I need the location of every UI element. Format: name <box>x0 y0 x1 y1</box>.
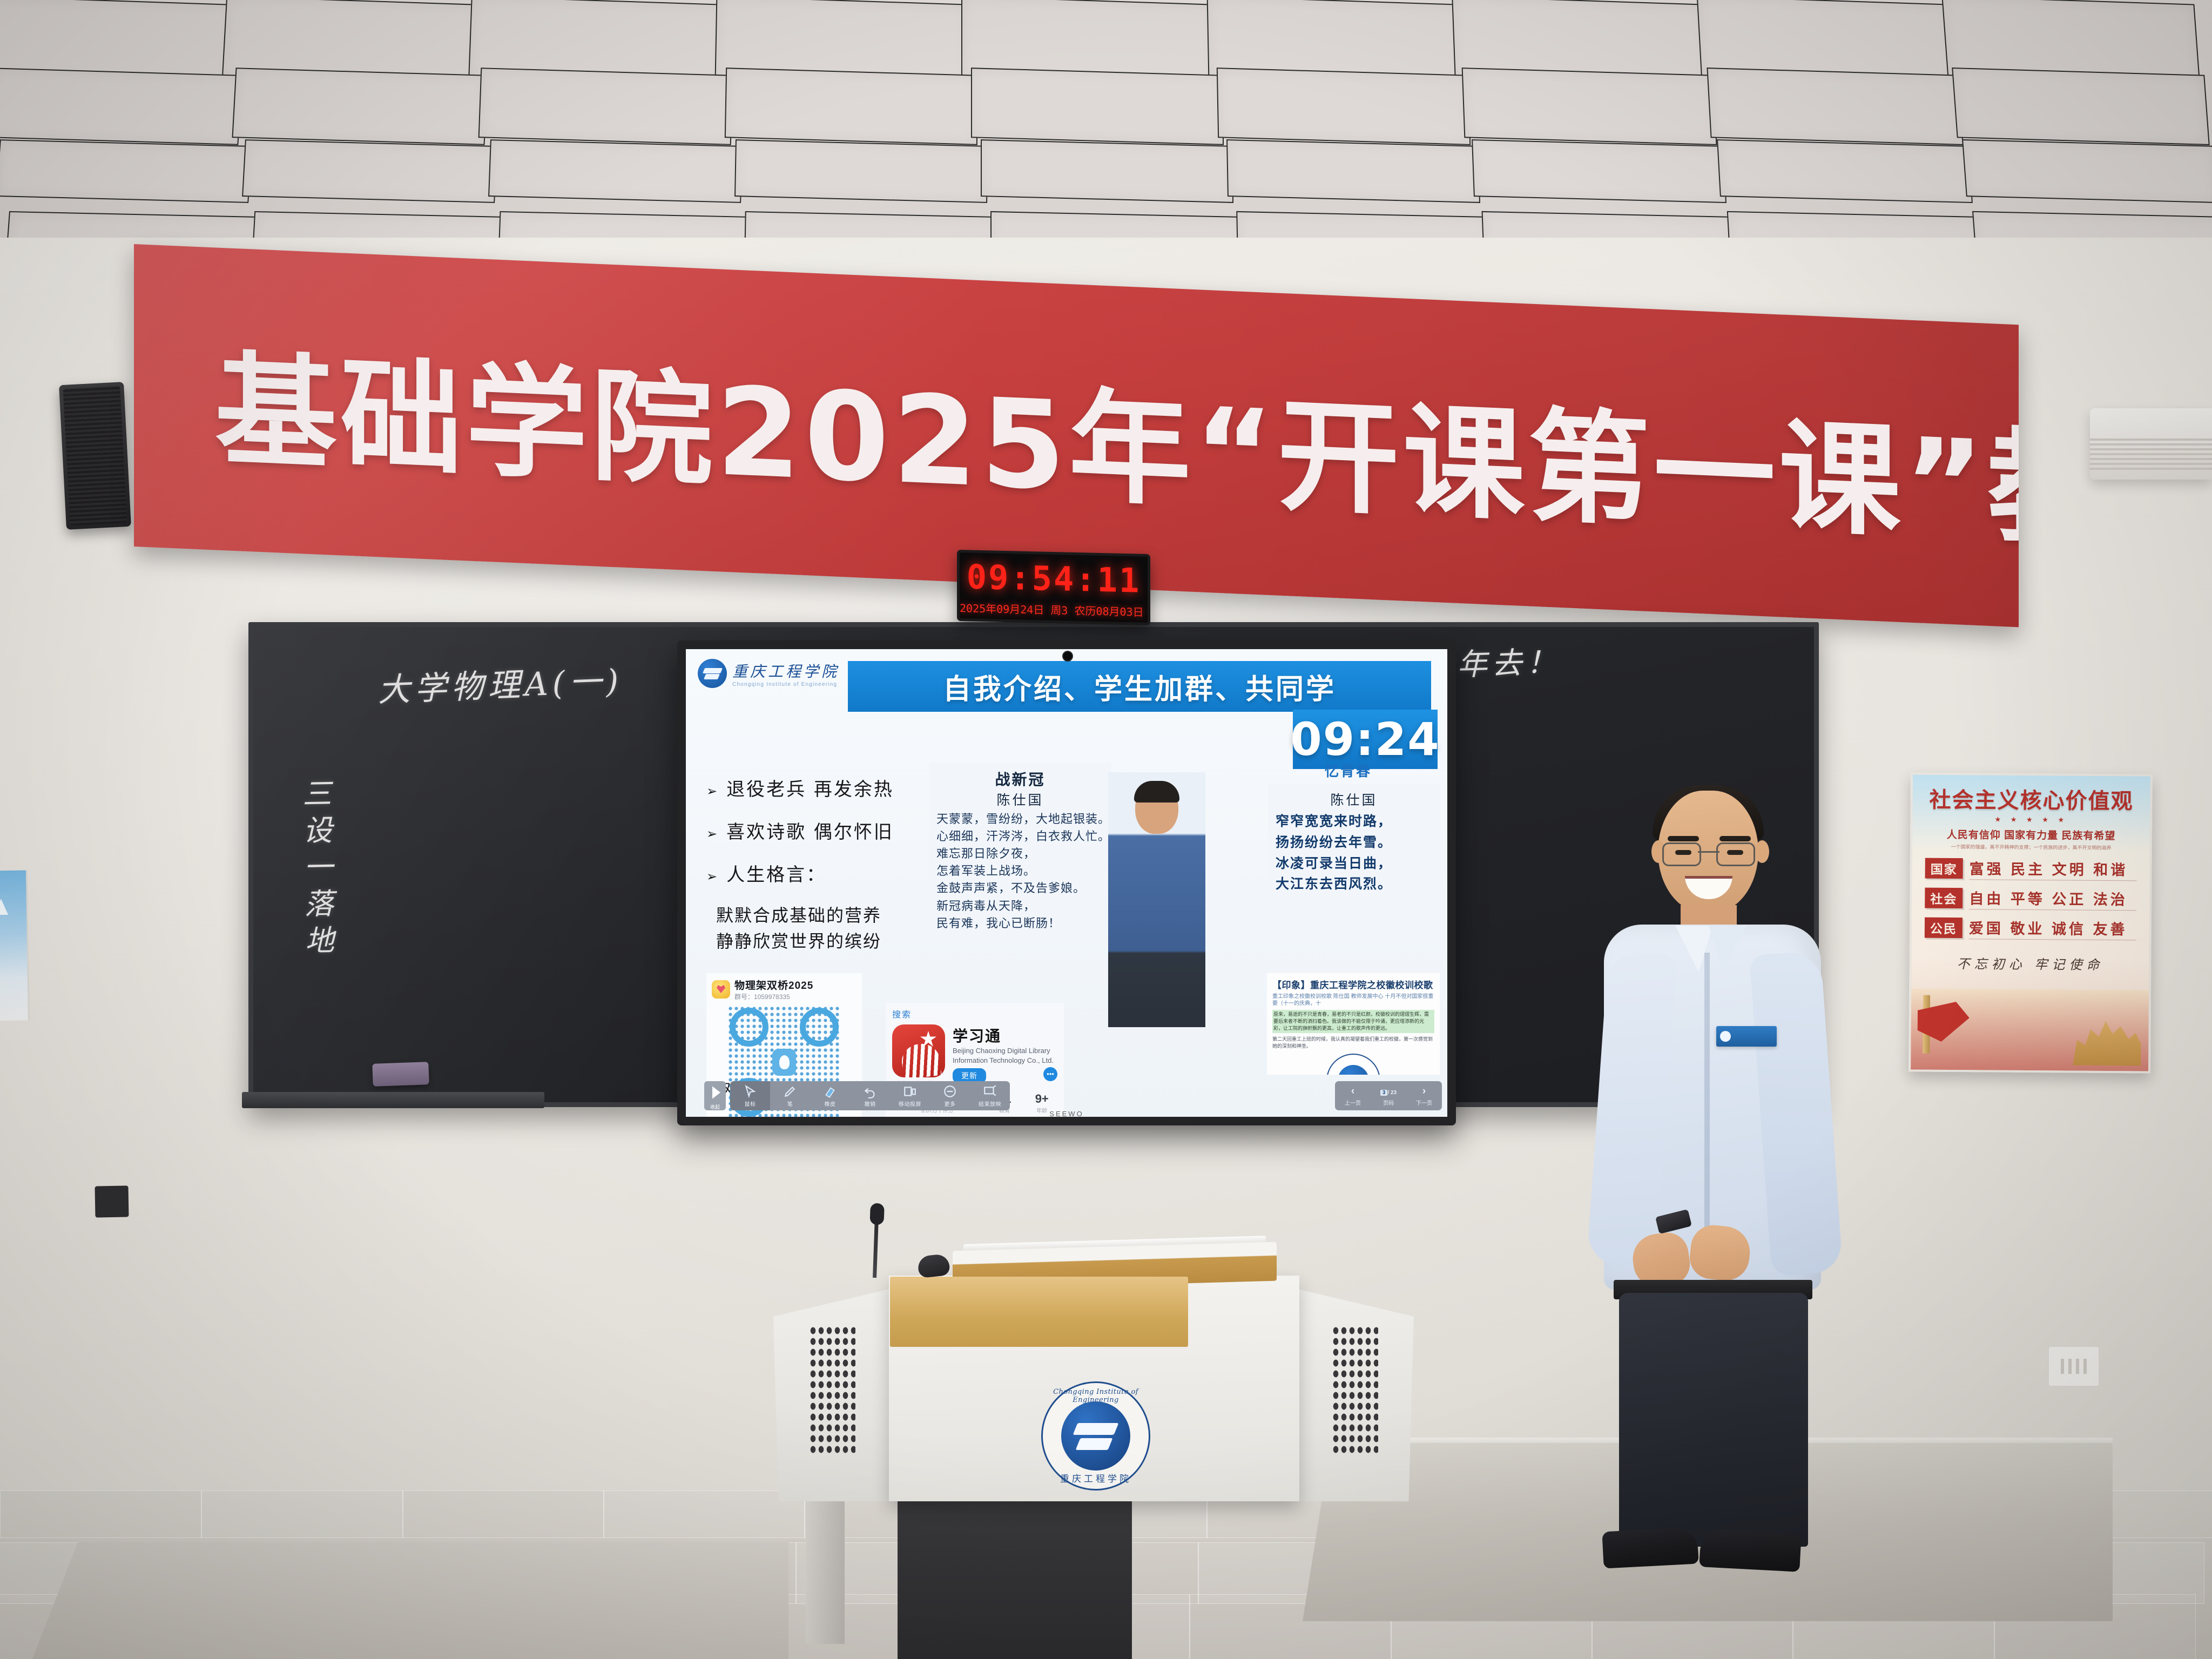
poem-line: 大江东去西风烈。 <box>1276 874 1432 895</box>
bullet-text: 退役老兵 再发余热 <box>726 774 894 801</box>
portrait-hair <box>1134 781 1179 802</box>
ceiling-tile <box>1952 68 2210 145</box>
bullet-text: 喜欢诗歌 偶尔怀旧 <box>726 817 894 844</box>
lower-platform <box>32 1542 788 1659</box>
ceiling-tile <box>1461 68 1717 145</box>
slide-logo-cn: 重庆工程学院 <box>732 660 839 682</box>
slide-logo-en: Chongqing Institute of Engineering <box>732 682 839 687</box>
list-item: ➢ 人生格言： <box>706 860 917 886</box>
air-conditioner <box>2090 408 2212 480</box>
collapse-toolbar-button[interactable]: 收起 <box>704 1081 726 1110</box>
slide-bullet-list: ➢ 退役老兵 再发余热 ➢ 喜欢诗歌 偶尔怀旧 ➢ 人生格言： 默默合成基础的营… <box>706 774 917 954</box>
poem-line: 怎着军装上战场。 <box>936 863 1104 880</box>
article-subtitle: 重工印象之校徽校训校歌 陈仕国 教师发展中心 十月不但对国家很重要（十一的庆典，… <box>1272 993 1434 1007</box>
poem-line: 难忘那日除夕夜， <box>936 846 1104 863</box>
page-current: 3 <box>1380 1090 1388 1096</box>
ceiling-tile <box>1962 139 2212 203</box>
chalk-tray <box>242 1092 544 1108</box>
back-search-label[interactable]: 搜索 <box>886 1003 1064 1022</box>
person-shoe-right <box>1699 1529 1801 1572</box>
next-page-button[interactable]: ›下一页 <box>1406 1081 1442 1110</box>
poster-subtitle: 人民有信仰 国家有力量 民族有希望 <box>1912 826 2150 842</box>
bullet-text: 人生格言： <box>726 860 826 886</box>
led-wall-clock: 09:54:11 2025年09月24日 周3 农历08月03日 温度35℃ <box>957 550 1150 625</box>
slide-school-logo: 重庆工程学院 Chongqing Institute of Engineerin… <box>698 659 839 688</box>
ceiling-tile <box>0 139 253 203</box>
presenter-portrait-photo <box>1108 772 1205 1027</box>
poem-card-yiqingchun: 陈仕国 窄窄宽宽来时路， 扬扬纷纷去年雪。 冰凌可录当日曲， 大江东去西风烈。 <box>1268 784 1440 900</box>
tv-brand-label: SEEWO <box>1049 1110 1083 1118</box>
motto-line-2: 静静欣赏世界的缤纷 <box>716 928 917 954</box>
ceiling-tile <box>725 68 979 145</box>
podium-left-panel <box>773 1286 901 1501</box>
poster-row-country: 国家 富强 民主 文明 和谐 <box>1925 857 2137 881</box>
list-item: ➢ 退役老兵 再发余热 <box>706 774 917 801</box>
speaker-grille <box>809 1325 855 1456</box>
poster-title: 社会主义核心价值观 <box>1912 782 2150 815</box>
podium-wood-front <box>890 1277 1188 1347</box>
school-emblem-large-icon <box>1326 1054 1380 1075</box>
star-decoration-icon: ★ ★ ★ ★ ★ <box>1912 814 2150 825</box>
clock-time: 09:54:11 <box>960 557 1148 601</box>
group-name: 物理架双桥2025 <box>734 977 813 992</box>
shirt-placket <box>1704 953 1710 1260</box>
ceiling-tile <box>0 68 244 145</box>
undo-tool-button[interactable]: 撤销 <box>850 1081 890 1110</box>
board-eraser <box>372 1062 429 1087</box>
poem-line: 新冠病毒从天降， <box>936 898 1104 915</box>
mouse-icon[interactable] <box>917 1253 950 1278</box>
chaoxing-app-icon <box>892 1024 945 1077</box>
poster-row-citizen: 公民 爱国 敬业 诚信 友善 <box>1925 916 2136 941</box>
page-indicator[interactable]: 3/ 23 页码 <box>1371 1081 1406 1110</box>
ceiling-tile <box>981 139 1233 203</box>
presentation-slide: 重庆工程学院 Chongqing Institute of Engineerin… <box>686 649 1447 1117</box>
ceiling-tile <box>488 139 743 203</box>
wall-control-box <box>95 1185 129 1217</box>
arrow-bullet-icon: ➢ <box>706 869 719 884</box>
teaching-podium[interactable]: Chongqing Institute of Engineering 重庆工程学… <box>773 1242 1414 1501</box>
poem-line: 窄窄宽宽来时路， <box>1276 811 1432 832</box>
monument-relief-icon <box>2073 1013 2141 1066</box>
person-trousers <box>1619 1293 1808 1547</box>
floor-tile <box>0 1491 202 1538</box>
poem2-title: 忆青春 <box>1325 760 1372 780</box>
poem-line: 冰凌可录当日曲， <box>1276 853 1432 874</box>
camera-icon <box>1062 651 1073 662</box>
poster-row-society: 社会 自由 平等 公正 法治 <box>1925 887 2136 911</box>
floor-tile <box>402 1491 604 1538</box>
ceiling <box>0 0 2212 254</box>
cast-tool-button[interactable]: 移动投屏 <box>890 1081 930 1110</box>
ceiling-tile <box>242 139 498 203</box>
eraser-tool-button[interactable]: 橡皮 <box>810 1081 850 1110</box>
person-brow-left <box>1668 836 1699 841</box>
poster-handwriting: 不忘初心 牢记使命 <box>1911 953 2149 973</box>
app-publisher-2: Information Technology Co., Ltd. <box>953 1056 1057 1065</box>
school-emblem-icon <box>698 659 727 688</box>
podium-right-panel <box>1286 1286 1414 1501</box>
person-shoe-left <box>1602 1527 1698 1568</box>
poem-line: 天蒙蒙，雪纷纷，大地起银装。 <box>936 811 1104 828</box>
blackboard-vertical-note: 三设一落地 <box>293 778 339 962</box>
poem-line: 扬扬纷纷去年雪。 <box>1276 832 1432 853</box>
poem-author: 陈仕国 <box>1276 790 1432 809</box>
poem-card-zhanxinguan: 战新冠 陈仕国 天蒙蒙，雪纷纷，大地起银装。 心细细，汗涔涔，白衣救人忙。 难忘… <box>929 763 1111 938</box>
poem-line: 心细细，汗涔涔，白衣救人忙。 <box>936 828 1104 846</box>
wall-socket <box>2048 1346 2100 1387</box>
page-total: / 23 <box>1387 1090 1397 1096</box>
article-screenshot: 【印象】重庆工程学院之校徽校训校歌 重工印象之校徽校训校歌 陈仕国 教师发展中心… <box>1267 973 1440 1075</box>
left-wall-poster <box>0 871 30 1021</box>
poem-title: 战新冠 <box>936 768 1104 790</box>
prev-page-button[interactable]: ‹上一页 <box>1335 1081 1371 1110</box>
motto-line-1: 默默合成基础的营养 <box>716 902 917 928</box>
ceiling-tile <box>971 68 1224 145</box>
slide-clock-time: 09:24 <box>1290 713 1440 766</box>
poem-author: 陈仕国 <box>936 790 1104 809</box>
article-title: 【印象】重庆工程学院之校徽校训校歌 <box>1272 977 1434 991</box>
app-name: 学习通 <box>953 1024 1057 1046</box>
poem-line: 民有难，我心已断肠！ <box>936 915 1104 933</box>
slide-title: 自我介绍、学生加群、共同学 <box>943 666 1336 707</box>
presenter-person <box>1594 791 1832 1563</box>
podium-base-cabinet <box>898 1488 1132 1659</box>
arrow-bullet-icon: ➢ <box>706 826 719 841</box>
podium-school-emblem-icon: Chongqing Institute of Engineering 重庆工程学… <box>1041 1381 1150 1491</box>
group-id: 群号：1059978335 <box>734 992 813 1001</box>
classroom-scene: 基础学院2025年“开课第一课”教学竞赛 09:54:11 2025年09月24… <box>0 0 2212 1659</box>
core-values-poster: 社会主义核心价值观 ★ ★ ★ ★ ★ 人民有信仰 国家有力量 民族有希望 一个… <box>1908 772 2153 1073</box>
ceiling-tile <box>734 139 988 203</box>
app-publisher-1: Beijing Chaoxing Digital Library <box>953 1046 1057 1056</box>
ceiling-tile <box>1707 68 1963 145</box>
ceiling-tile <box>478 68 734 145</box>
clock-date-line: 2025年09月24日 周3 农历08月03日 温度35℃ <box>960 599 1148 619</box>
podium-emblem-cn: 重庆工程学院 <box>1043 1471 1149 1485</box>
ceiling-tile <box>1472 139 1727 203</box>
floor-tile <box>201 1491 403 1538</box>
poem-line: 金鼓声声紧，不及告爹娘。 <box>936 880 1104 898</box>
poster-illustration <box>1911 988 2149 1071</box>
presentation-toolbar[interactable]: 收起 鼠标 笔 橡皮 <box>704 1079 1442 1112</box>
list-item: ➢ 喜欢诗歌 偶尔怀旧 <box>706 817 917 844</box>
poster-fineprint: 一个国家的强盛，离不开精神的支撑；一个民族的进步，离不开文明的滋养 <box>1912 842 2150 851</box>
pen-tool-button[interactable]: 笔 <box>770 1081 810 1110</box>
banner-text: 基础学院2025年“开课第一课”教学竞赛 <box>215 311 1986 563</box>
glasses-icon <box>1662 842 1755 865</box>
person-brow-right <box>1719 836 1751 841</box>
article-paragraph: 第二天回重工上班的时候，我认真的凝望着我们重工的校徽，第一次感觉到她的深刻和神圣… <box>1272 1036 1434 1049</box>
more-tool-button[interactable]: 更多 <box>930 1081 970 1110</box>
ceiling-tile <box>1717 139 1973 203</box>
speaker-grille <box>1332 1325 1378 1456</box>
ceiling-tile <box>232 68 489 145</box>
arrow-bullet-icon: ➢ <box>706 784 719 799</box>
blackboard-course-title: 大学物理A(一) <box>376 655 623 711</box>
article-highlight: 原来，易逝的不只是青春，易老的不只是红颜，校徽校训的熠熠生辉，需要后来者不断的洒… <box>1272 1010 1434 1033</box>
smart-display[interactable]: 重庆工程学院 Chongqing Institute of Engineerin… <box>677 640 1456 1125</box>
ceiling-tile <box>1216 68 1471 145</box>
name-badge <box>1716 1026 1777 1047</box>
exit-presentation-button[interactable]: 结束放映 <box>970 1081 1010 1110</box>
person-ear-right <box>1755 840 1769 863</box>
ceiling-tile <box>1226 139 1480 203</box>
group-avatar-icon <box>712 980 730 999</box>
wall-speaker-left <box>59 382 131 530</box>
cursor-tool-button[interactable]: 鼠标 <box>730 1081 770 1110</box>
slide-title-bar: 自我介绍、学生加群、共同学 <box>848 661 1431 712</box>
